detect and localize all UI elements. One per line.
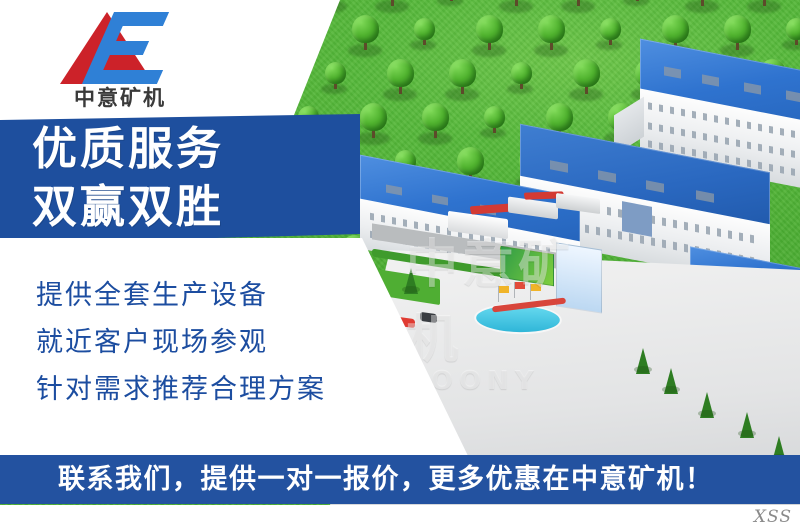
logo-e-bar-top-icon: [109, 12, 169, 26]
conifer-tree: [636, 348, 650, 374]
logo-e-bar-mid-icon: [103, 41, 149, 55]
tree-crown: [457, 147, 484, 175]
logo-company-name: 中意矿机: [56, 82, 184, 112]
flag-red: [515, 282, 525, 289]
feature-item-2: 就近客户现场参观: [36, 319, 416, 366]
cta-banner: 联系我们，提供一对一报价，更多优惠在中意矿机！: [0, 455, 800, 504]
tree-crown: [600, 18, 621, 40]
feature-list: 提供全套生产设备 就近客户现场参观 针对需求推荐合理方案: [36, 272, 416, 413]
promo-poster: 中意矿机 ZOONY 中意矿机 优质服务 双赢双胜 提供全套生产设备 就近客户现…: [0, 0, 800, 530]
headline-line-1: 优质服务: [32, 120, 332, 178]
tree-crown: [449, 59, 476, 87]
tree-trunk: [763, 0, 766, 6]
flag-yellow: [531, 284, 541, 291]
tree-crown: [573, 59, 600, 87]
tree-trunk: [701, 0, 704, 6]
conifer-tree: [664, 368, 678, 394]
tree-crown: [476, 15, 503, 43]
brand-logo: 中意矿机: [54, 6, 186, 108]
tree-crown: [546, 103, 573, 131]
tree-crown: [484, 106, 505, 128]
conifer-tree: [740, 412, 754, 438]
tree-crown: [724, 15, 751, 43]
tree-trunk: [391, 0, 394, 6]
tree-trunk: [450, 0, 453, 1]
feature-item-1: 提供全套生产设备: [36, 272, 416, 319]
feature-item-3: 针对需求推荐合理方案: [36, 366, 416, 413]
tree-crown: [662, 15, 689, 43]
tree-crown: [325, 62, 346, 84]
tree-crown: [786, 18, 800, 40]
headline-line-2: 双赢双胜: [32, 178, 332, 236]
tree-crown: [511, 62, 532, 84]
flag-yellow: [499, 286, 509, 293]
tree-crown: [352, 15, 379, 43]
tree-crown: [422, 103, 449, 131]
tree-trunk: [515, 0, 518, 6]
tree-crown: [414, 18, 435, 40]
tree-crown: [387, 59, 414, 87]
tree-trunk: [636, 0, 639, 1]
corner-watermark: XSS: [754, 505, 792, 530]
loading-door: [622, 201, 652, 237]
tree-trunk: [577, 0, 580, 6]
tree-crown: [360, 103, 387, 131]
conifer-tree: [700, 392, 714, 418]
tree-crown: [538, 15, 565, 43]
cta-banner-text: 联系我们，提供一对一报价，更多优惠在中意矿机！: [58, 455, 714, 504]
headline: 优质服务 双赢双胜: [32, 120, 332, 236]
